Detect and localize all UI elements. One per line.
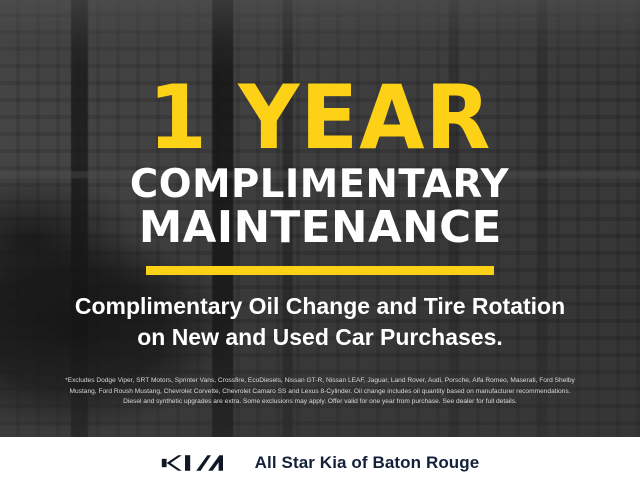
subheadline: Complimentary Oil Change and Tire Rotati… [75, 291, 565, 352]
kia-logo [161, 452, 233, 474]
hero-section: 1 YEAR COMPLIMENTARY MAINTENANCE Complim… [0, 0, 640, 437]
disclaimer-line-2: Mustang, Ford Roush Mustang, Chevrolet C… [14, 387, 626, 398]
hero-content: 1 YEAR COMPLIMENTARY MAINTENANCE Complim… [0, 0, 640, 437]
headline-maintenance: MAINTENANCE [139, 206, 502, 250]
disclaimer-text: *Excludes Dodge Viper, SRT Motors, Sprin… [0, 376, 640, 408]
disclaimer-line-3: Diesel and synthetic upgrades are extra.… [14, 397, 626, 408]
dealer-name: All Star Kia of Baton Rouge [255, 453, 480, 473]
disclaimer-line-1: *Excludes Dodge Viper, SRT Motors, Sprin… [14, 376, 626, 387]
yellow-divider-bar [146, 266, 494, 275]
subheadline-line-2: on New and Used Car Purchases. [75, 322, 565, 353]
subheadline-line-1: Complimentary Oil Change and Tire Rotati… [75, 291, 565, 322]
dealer-footer: All Star Kia of Baton Rouge [0, 437, 640, 488]
headline-year: 1 YEAR [148, 78, 491, 159]
service-promo-banner: 1 YEAR COMPLIMENTARY MAINTENANCE Complim… [0, 0, 640, 488]
headline-complimentary: COMPLIMENTARY [130, 165, 509, 204]
